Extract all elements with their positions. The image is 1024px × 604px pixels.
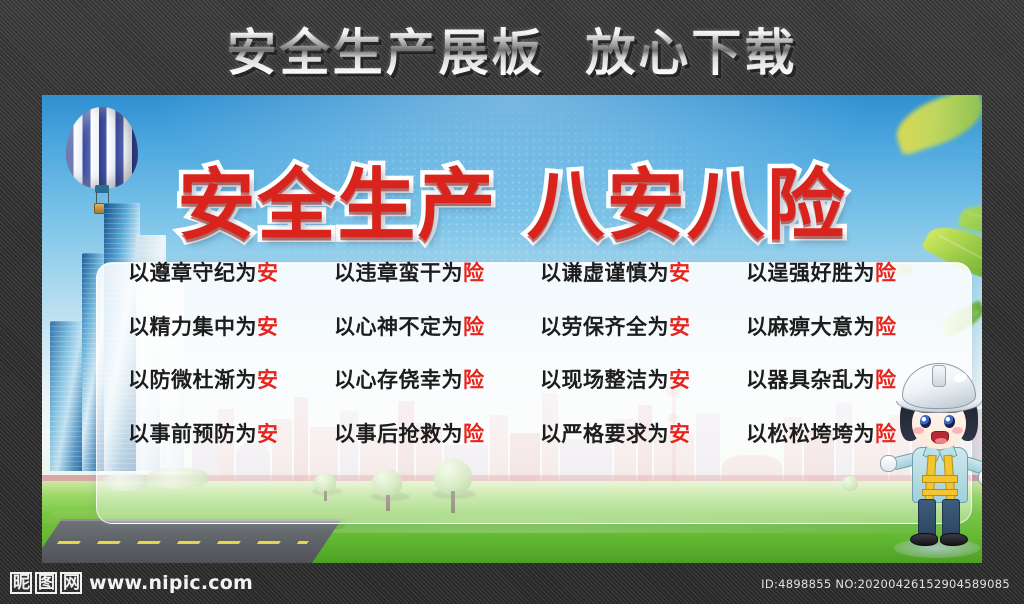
slogan-text: 以事前预防为 [128, 422, 257, 446]
slogan-cell: 以违章蛮干为险 [308, 257, 514, 287]
footer: 昵 图 网 www.nipic.com ID:4898855 NO:202004… [0, 563, 1024, 604]
slogan-cell: 以精力集中为安 [102, 311, 308, 341]
slogan-cell: 以事前预防为安 [102, 418, 308, 448]
slogan-keyword-xian: 险 [463, 315, 485, 339]
slogan-text: 以心存侥幸为 [334, 368, 463, 392]
slogan-text: 以劳保齐全为 [540, 315, 669, 339]
slogan-text: 以心神不定为 [334, 315, 463, 339]
slogan-text: 以麻痹大意为 [746, 315, 875, 339]
slogan-cell: 以现场整洁为安 [514, 364, 720, 394]
banner-headline: 安全生产展板 放心下载 [227, 13, 798, 85]
slogan-keyword-an: 安 [669, 368, 691, 392]
slogan-keyword-an: 安 [669, 315, 691, 339]
slogan-keyword-xian: 险 [463, 368, 485, 392]
brand-char-3: 网 [60, 572, 82, 594]
slogan-keyword-xian: 险 [463, 422, 485, 446]
slogan-keyword-an: 安 [257, 315, 279, 339]
slogan-cell: 以谦虚谨慎为安 [514, 257, 720, 287]
slogan-cell: 以逞强好胜为险 [720, 257, 926, 287]
slogan-keyword-an: 安 [257, 368, 279, 392]
brand-chars: 昵 图 网 [10, 572, 82, 594]
slogan-text: 以逞强好胜为 [746, 261, 875, 285]
slogan-keyword-xian: 险 [875, 261, 897, 285]
screenshot-root: 安全生产展板 放心下载 [0, 0, 1024, 604]
poster: 安全生产 八安八险 以遵章守纪为安以违章蛮干为险以谦虚谨慎为安以逞强好胜为险以精… [42, 95, 982, 563]
slogan-text: 以松松垮垮为 [746, 422, 875, 446]
slogan-text: 以谦虚谨慎为 [540, 261, 669, 285]
slogan-cell: 以遵章守纪为安 [102, 257, 308, 287]
poster-title: 安全生产 八安八险 [42, 143, 982, 255]
glove-icon [880, 455, 897, 472]
slogan-cell: 以麻痹大意为险 [720, 311, 926, 341]
brand-logo: 昵 图 网 www.nipic.com [10, 572, 253, 594]
asset-id-text: ID:4898855 NO:20200426152904589085 [761, 577, 1010, 591]
slogan-keyword-an: 安 [669, 422, 691, 446]
slogan-cell: 以心存侥幸为险 [308, 364, 514, 394]
brand-url: www.nipic.com [89, 572, 253, 594]
slogan-text: 以违章蛮干为 [334, 261, 463, 285]
slogan-text: 以事后抢救为 [334, 422, 463, 446]
slogan-keyword-an: 安 [257, 261, 279, 285]
skyscraper [50, 321, 84, 471]
slogan-text: 以器具杂乱为 [746, 368, 875, 392]
slogan-cell: 以防微杜渐为安 [102, 364, 308, 394]
road [42, 519, 342, 563]
slogan-text: 以现场整洁为 [540, 368, 669, 392]
brand-char-2: 图 [35, 572, 57, 594]
slogan-cell: 以劳保齐全为安 [514, 311, 720, 341]
slogan-grid: 以遵章守纪为安以违章蛮干为险以谦虚谨慎为安以逞强好胜为险以精力集中为安以心神不定… [102, 245, 926, 460]
slogan-keyword-xian: 险 [875, 315, 897, 339]
cartoon-worker-illustration [882, 363, 982, 563]
slogan-text: 以精力集中为 [128, 315, 257, 339]
slogan-keyword-an: 安 [669, 261, 691, 285]
banner: 安全生产展板 放心下载 [0, 14, 1024, 84]
slogan-keyword-an: 安 [257, 422, 279, 446]
slogan-text: 以防微杜渐为 [128, 368, 257, 392]
slogan-cell: 以心神不定为险 [308, 311, 514, 341]
slogan-cell: 以严格要求为安 [514, 418, 720, 448]
slogan-text: 以严格要求为 [540, 422, 669, 446]
slogan-cell: 以事后抢救为险 [308, 418, 514, 448]
brand-char-1: 昵 [10, 572, 32, 594]
slogan-keyword-xian: 险 [463, 261, 485, 285]
glove-icon [978, 469, 982, 486]
slogan-text: 以遵章守纪为 [128, 261, 257, 285]
